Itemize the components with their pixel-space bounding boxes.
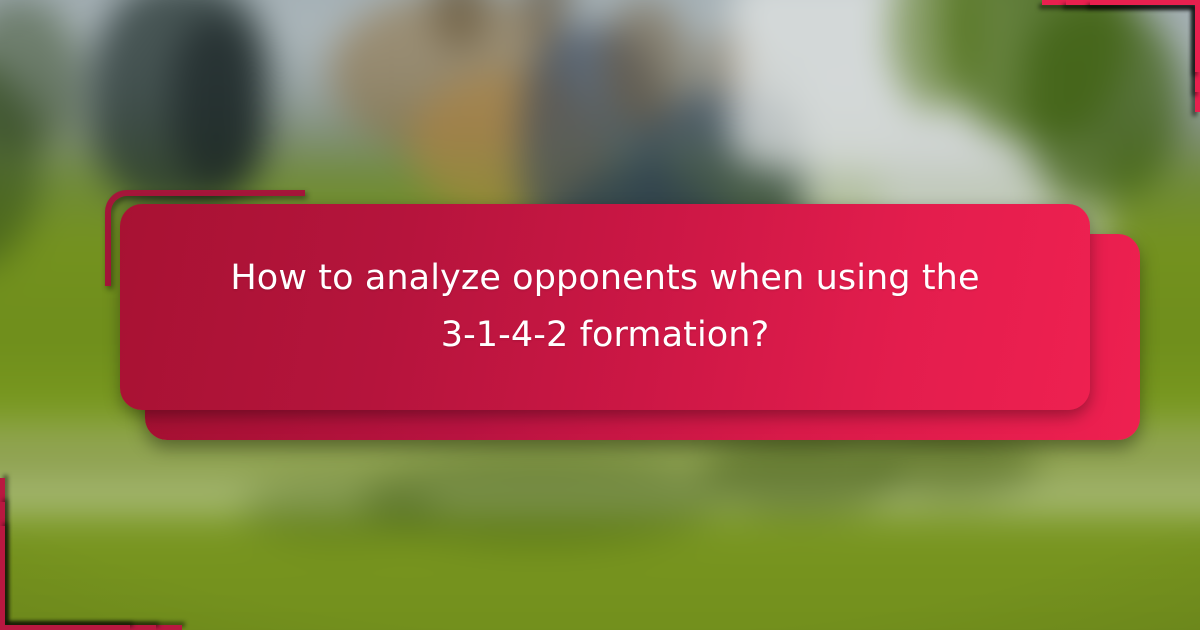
card-front-plate: How to analyze opponents when using the …: [120, 204, 1090, 410]
corner-bracket-bottom-left: [0, 470, 190, 630]
corner-bracket-line-icon: [1090, 0, 1200, 72]
page-title: How to analyze opponents when using the …: [178, 250, 1031, 363]
corner-bracket-top-right: [1030, 0, 1200, 120]
corner-bracket-line-icon: [0, 526, 130, 630]
social-card-canvas: How to analyze opponents when using the …: [0, 0, 1200, 630]
headline-card-group: How to analyze opponents when using the …: [105, 188, 1115, 448]
